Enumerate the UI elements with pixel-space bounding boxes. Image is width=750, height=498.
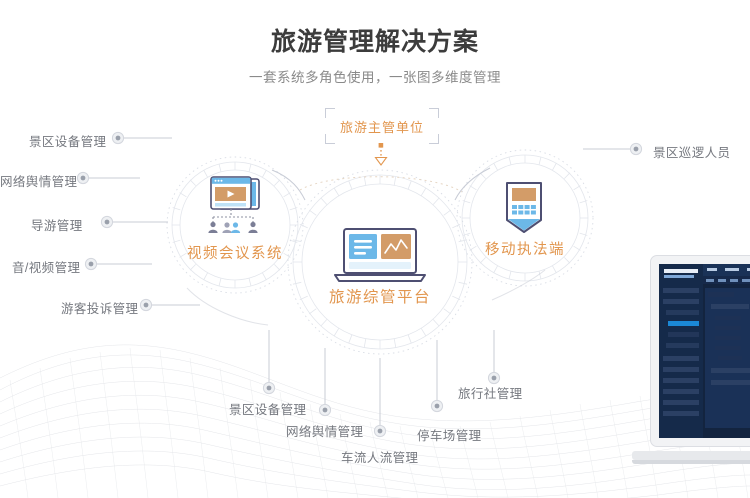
infographic-canvas: 旅游管理解决方案 一套系统多角色使用，一张图多维度管理 旅游主管单位 xyxy=(0,0,750,498)
laptop-base xyxy=(632,451,750,460)
laptop-dashboard-mockup xyxy=(650,255,750,470)
dashboard-screen xyxy=(659,264,750,438)
left-item-label-3[interactable]: 音/视频管理 xyxy=(12,257,80,276)
left-item-label-4[interactable]: 游客投诉管理 xyxy=(61,298,138,317)
bottom-item-label-3[interactable]: 停车场管理 xyxy=(417,425,482,444)
authority-badge-label: 旅游主管单位 xyxy=(340,117,424,136)
left-item-label-2[interactable]: 导游管理 xyxy=(31,215,83,234)
bottom-item-label-1[interactable]: 网络舆情管理 xyxy=(286,421,363,440)
laptop-base-edge xyxy=(632,460,750,464)
bottom-item-label-0[interactable]: 景区设备管理 xyxy=(229,399,306,418)
page-subtitle: 一套系统多角色使用，一张图多维度管理 xyxy=(0,66,750,86)
node-label-video-conference: 视频会议系统 xyxy=(170,242,300,263)
badge-corner-bottom-left xyxy=(325,134,335,144)
bottom-item-label-4[interactable]: 旅行社管理 xyxy=(458,383,523,402)
node-label-mobile-enforcement: 移动执法端 xyxy=(460,238,590,259)
node-label-tourism-platform: 旅游综管平台 xyxy=(312,285,448,307)
page-title: 旅游管理解决方案 xyxy=(0,22,750,58)
badge-corner-top-right xyxy=(429,108,439,118)
left-item-label-1[interactable]: 网络舆情管理 xyxy=(0,171,77,190)
left-item-label-0[interactable]: 景区设备管理 xyxy=(29,131,106,150)
laptop-dashboard-icon xyxy=(331,228,429,289)
authority-badge[interactable]: 旅游主管单位 xyxy=(331,113,433,139)
badge-corner-bottom-right xyxy=(429,134,439,144)
badge-corner-top-left xyxy=(325,108,335,118)
video-window-icon xyxy=(203,176,267,241)
right-item-label-0[interactable]: 景区巡逻人员 xyxy=(653,142,730,161)
bottom-item-label-2[interactable]: 车流人流管理 xyxy=(341,447,418,466)
handheld-device-icon xyxy=(497,180,551,241)
